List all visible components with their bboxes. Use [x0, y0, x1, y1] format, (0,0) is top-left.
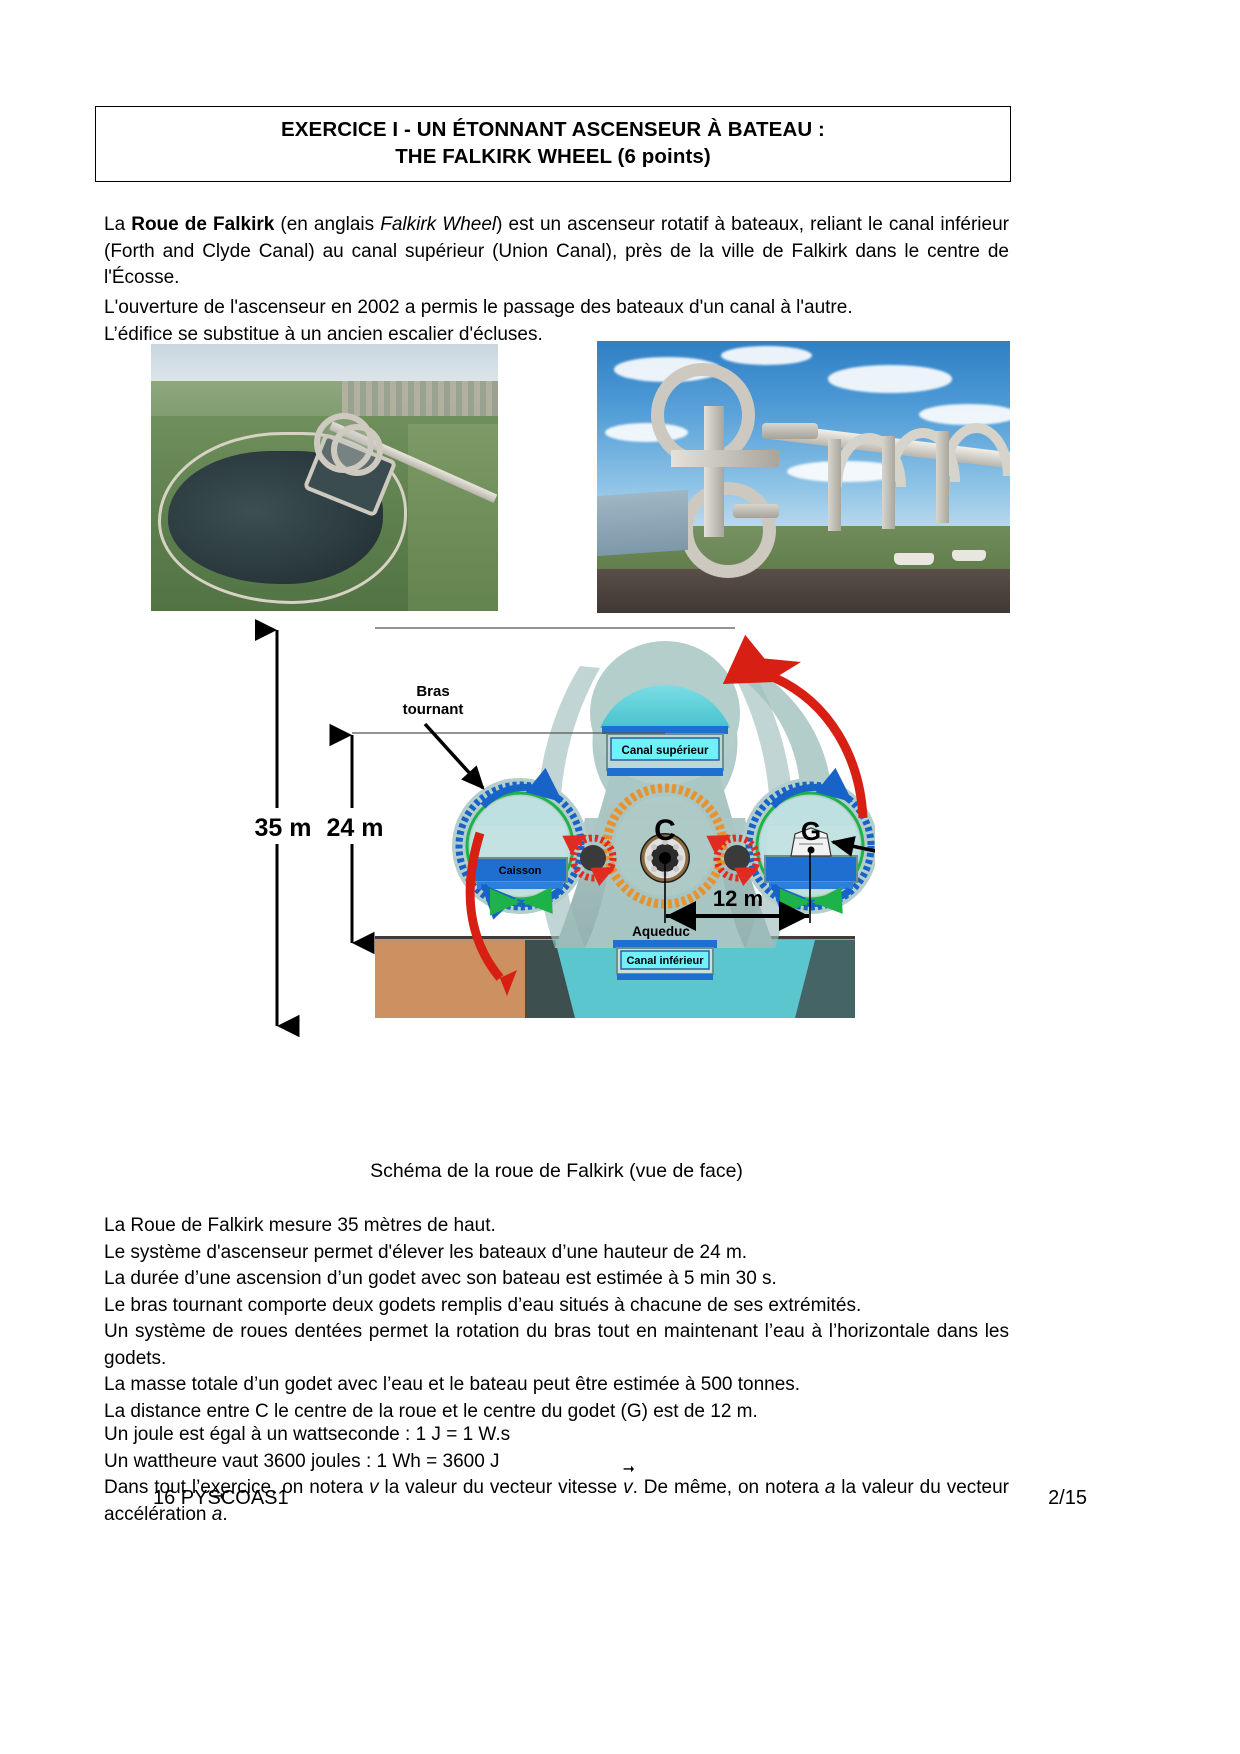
diagram-label-caisson: Caisson — [499, 865, 542, 877]
intro-text-a: La — [104, 214, 131, 235]
notation-text-c: . De même, on notera — [633, 1477, 825, 1498]
footer-exam-code: 16 PYSCOAS1 — [153, 1487, 289, 1510]
notation-line-2: Un wattheure vaut 3600 joules : 1 Wh = 3… — [104, 1449, 1009, 1476]
fact-line-4: Le bras tournant comporte deux godets re… — [104, 1293, 1009, 1320]
exercise-title-line-1: EXERCICE I - UN ÉTONNANT ASCENSEUR À BAT… — [102, 116, 1004, 143]
diagram-label-lower-canal: Canal inférieur — [626, 955, 704, 967]
diagram-label-bras: Bras — [416, 683, 449, 700]
diagram-lower-canal: Canal inférieur — [613, 940, 717, 980]
intro-paragraph: La Roue de Falkirk (en anglais Falkirk W… — [104, 212, 1009, 292]
opening-line-1: L'ouverture de l'ascenseur en 2002 a per… — [104, 295, 1009, 322]
diagram-label-12m: 12 m — [713, 886, 763, 911]
vector-v: v — [623, 1475, 633, 1502]
fact-line-2: Le système d'ascenseur permet d'élever l… — [104, 1240, 1009, 1267]
closeup-pier-1 — [828, 439, 841, 531]
intro-text-italic: Falkirk Wheel — [380, 214, 496, 235]
closeup-visitor-centre — [597, 490, 688, 556]
fact-line-1: La Roue de Falkirk mesure 35 mètres de h… — [104, 1213, 1009, 1240]
diagram-caption: Schéma de la roue de Falkirk (vue de fac… — [104, 1160, 1009, 1183]
diagram-label-aqueduc: Aqueduc — [632, 924, 690, 939]
exam-page: EXERCICE I - UN ÉTONNANT ASCENSEUR À BAT… — [0, 0, 1240, 1754]
closeup-water — [597, 569, 1010, 613]
photo-aerial-view — [151, 344, 498, 611]
notation-vector-v-letter: v — [623, 1477, 633, 1498]
diagram-label-24m: 24 m — [327, 814, 384, 842]
fact-line-3: La durée d’une ascension d’un godet avec… — [104, 1266, 1009, 1293]
notation-line-1: Un joule est égal à un wattseconde : 1 J… — [104, 1422, 1009, 1449]
diagram-label-upper-canal: Canal supérieur — [622, 745, 709, 757]
closeup-boat-2 — [952, 550, 986, 561]
cloud-3 — [828, 365, 952, 392]
notation-block: Un joule est égal à un wattseconde : 1 J… — [104, 1422, 1009, 1528]
closeup-boat-1 — [894, 553, 934, 565]
diagram-label-C: C — [654, 814, 676, 847]
closeup-central-tower — [704, 406, 724, 537]
exercise-title-line-2: THE FALKIRK WHEEL (6 points) — [102, 143, 1004, 170]
closeup-gondola-lower — [733, 504, 779, 518]
closeup-pier-2 — [882, 436, 895, 528]
cloud-4 — [919, 404, 1010, 426]
diagram-label-35m: 35 m — [255, 814, 311, 842]
intro-text-b: (en anglais — [274, 214, 380, 235]
aerial-town — [342, 381, 498, 416]
facts-block: La Roue de Falkirk mesure 35 mètres de h… — [104, 1213, 1009, 1425]
footer-page-number: 2/15 — [1048, 1487, 1087, 1510]
fact-line-5: Un système de roues dentées permet la ro… — [104, 1319, 1009, 1372]
aerial-right-field — [408, 424, 498, 611]
closeup-pier-3 — [936, 431, 949, 523]
photo-closeup-view — [597, 341, 1010, 613]
closeup-arm — [671, 450, 778, 467]
exercise-title-box: EXERCICE I - UN ÉTONNANT ASCENSEUR À BAT… — [95, 106, 1011, 182]
falkirk-wheel-schematic: Canal supérieur Caisson — [255, 618, 875, 1038]
closeup-gondola-upper — [762, 423, 818, 439]
notation-symbol-a: a — [825, 1477, 836, 1498]
closeup-wheel-lower-ring — [680, 482, 776, 578]
diagram-label-G: G — [801, 816, 821, 846]
notation-symbol-v: v — [369, 1477, 379, 1498]
diagram-label-tournant: tournant — [403, 701, 464, 718]
notation-text-b: la valeur du vecteur vitesse — [379, 1477, 624, 1498]
fact-line-6: La masse totale d’un godet avec l’eau et… — [104, 1372, 1009, 1399]
intro-text-bold: Roue de Falkirk — [131, 214, 274, 235]
